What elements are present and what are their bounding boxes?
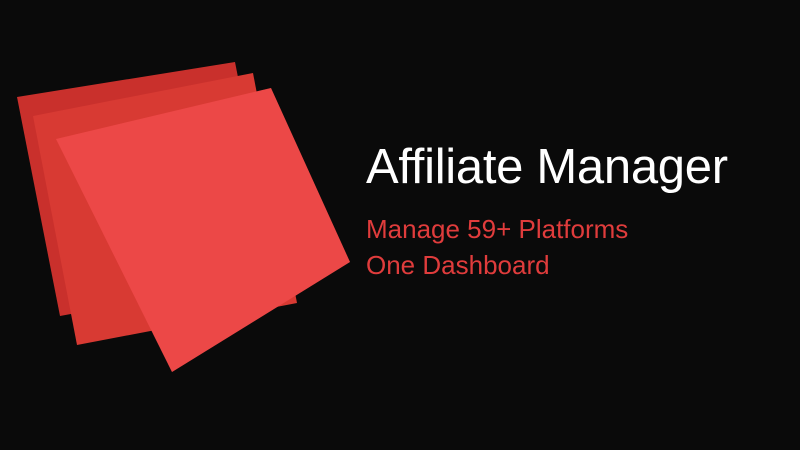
- front-card-shape: [56, 88, 350, 372]
- back-card-shape: [17, 62, 277, 316]
- subtitle-line-dashboard: One Dashboard: [366, 247, 786, 283]
- page-title: Affiliate Manager: [366, 139, 786, 195]
- title-block: Affiliate Manager Manage 59+ Platforms O…: [366, 139, 786, 283]
- stacked-cards-illustration: [0, 0, 400, 450]
- middle-card-shape: [33, 73, 297, 345]
- front-card-highlight: [56, 88, 350, 372]
- subtitle-line-platforms: Manage 59+ Platforms: [366, 211, 786, 247]
- slide-canvas: Affiliate Manager Manage 59+ Platforms O…: [0, 0, 800, 450]
- subtitle-group: Manage 59+ Platforms One Dashboard: [366, 211, 786, 283]
